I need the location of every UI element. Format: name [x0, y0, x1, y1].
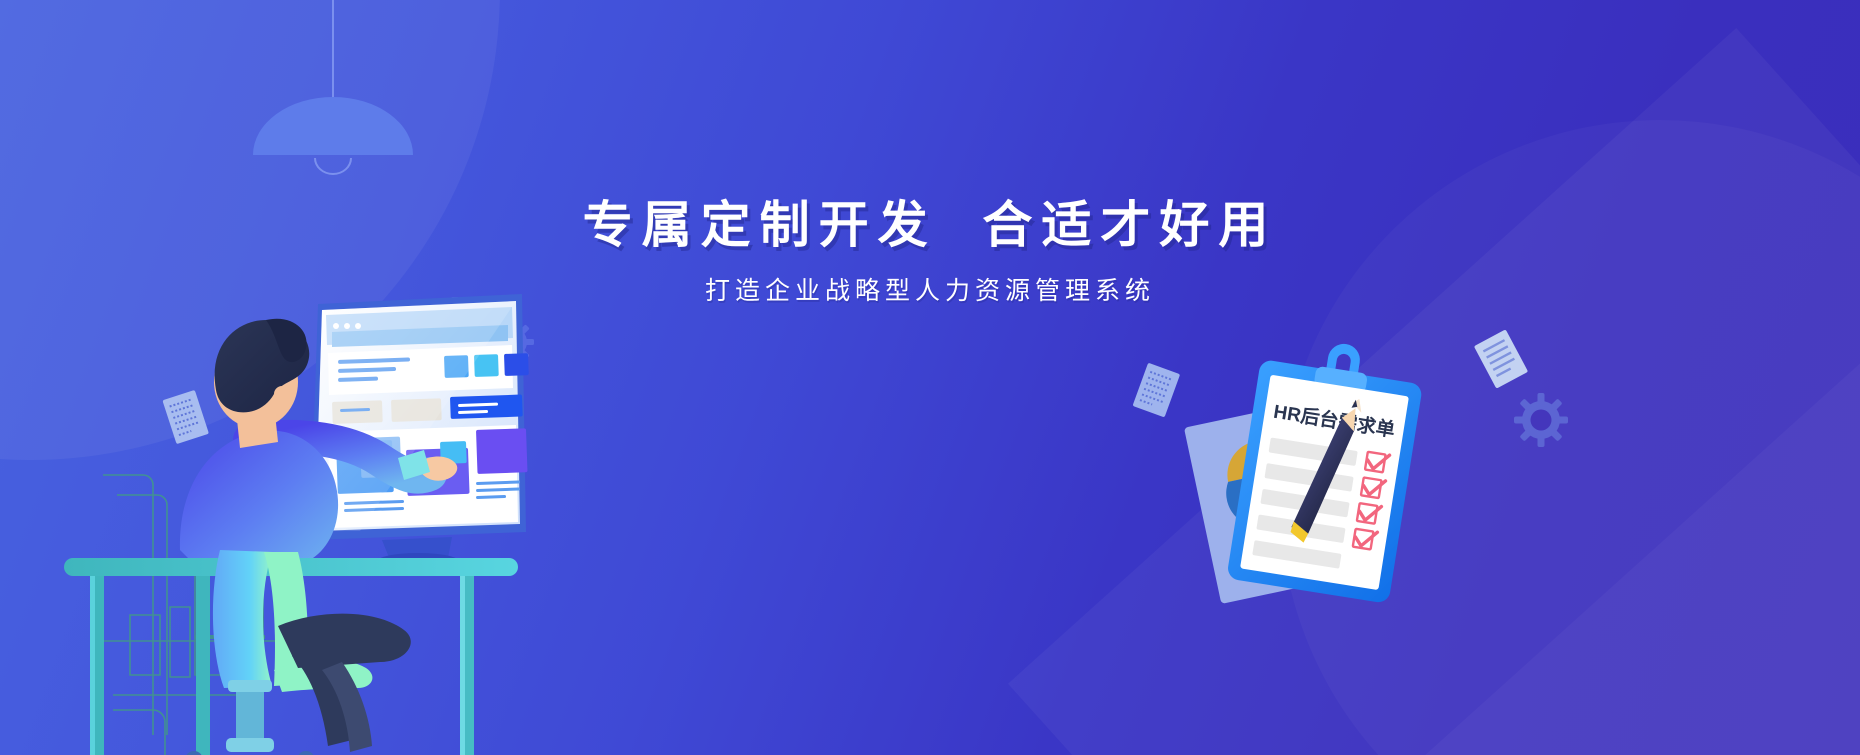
gear-icon-right — [1513, 392, 1569, 448]
paper-icon-right — [1475, 330, 1527, 388]
pendant-lamp-icon — [243, 0, 423, 200]
hero-banner: HR后台需求单 — [0, 0, 1860, 755]
banner-subheadline: 打造企业战略型人力资源管理系统 — [0, 275, 1860, 308]
developer-at-desk-illustration — [60, 290, 620, 755]
hr-requirement-clipboard-illustration: HR后台需求单 — [1185, 330, 1475, 620]
banner-text-block: 专属定制开发 合适才好用 打造企业战略型人力资源管理系统 — [0, 196, 1860, 308]
paper-icon-middle — [1133, 363, 1179, 419]
banner-headline: 专属定制开发 合适才好用 — [0, 196, 1860, 255]
